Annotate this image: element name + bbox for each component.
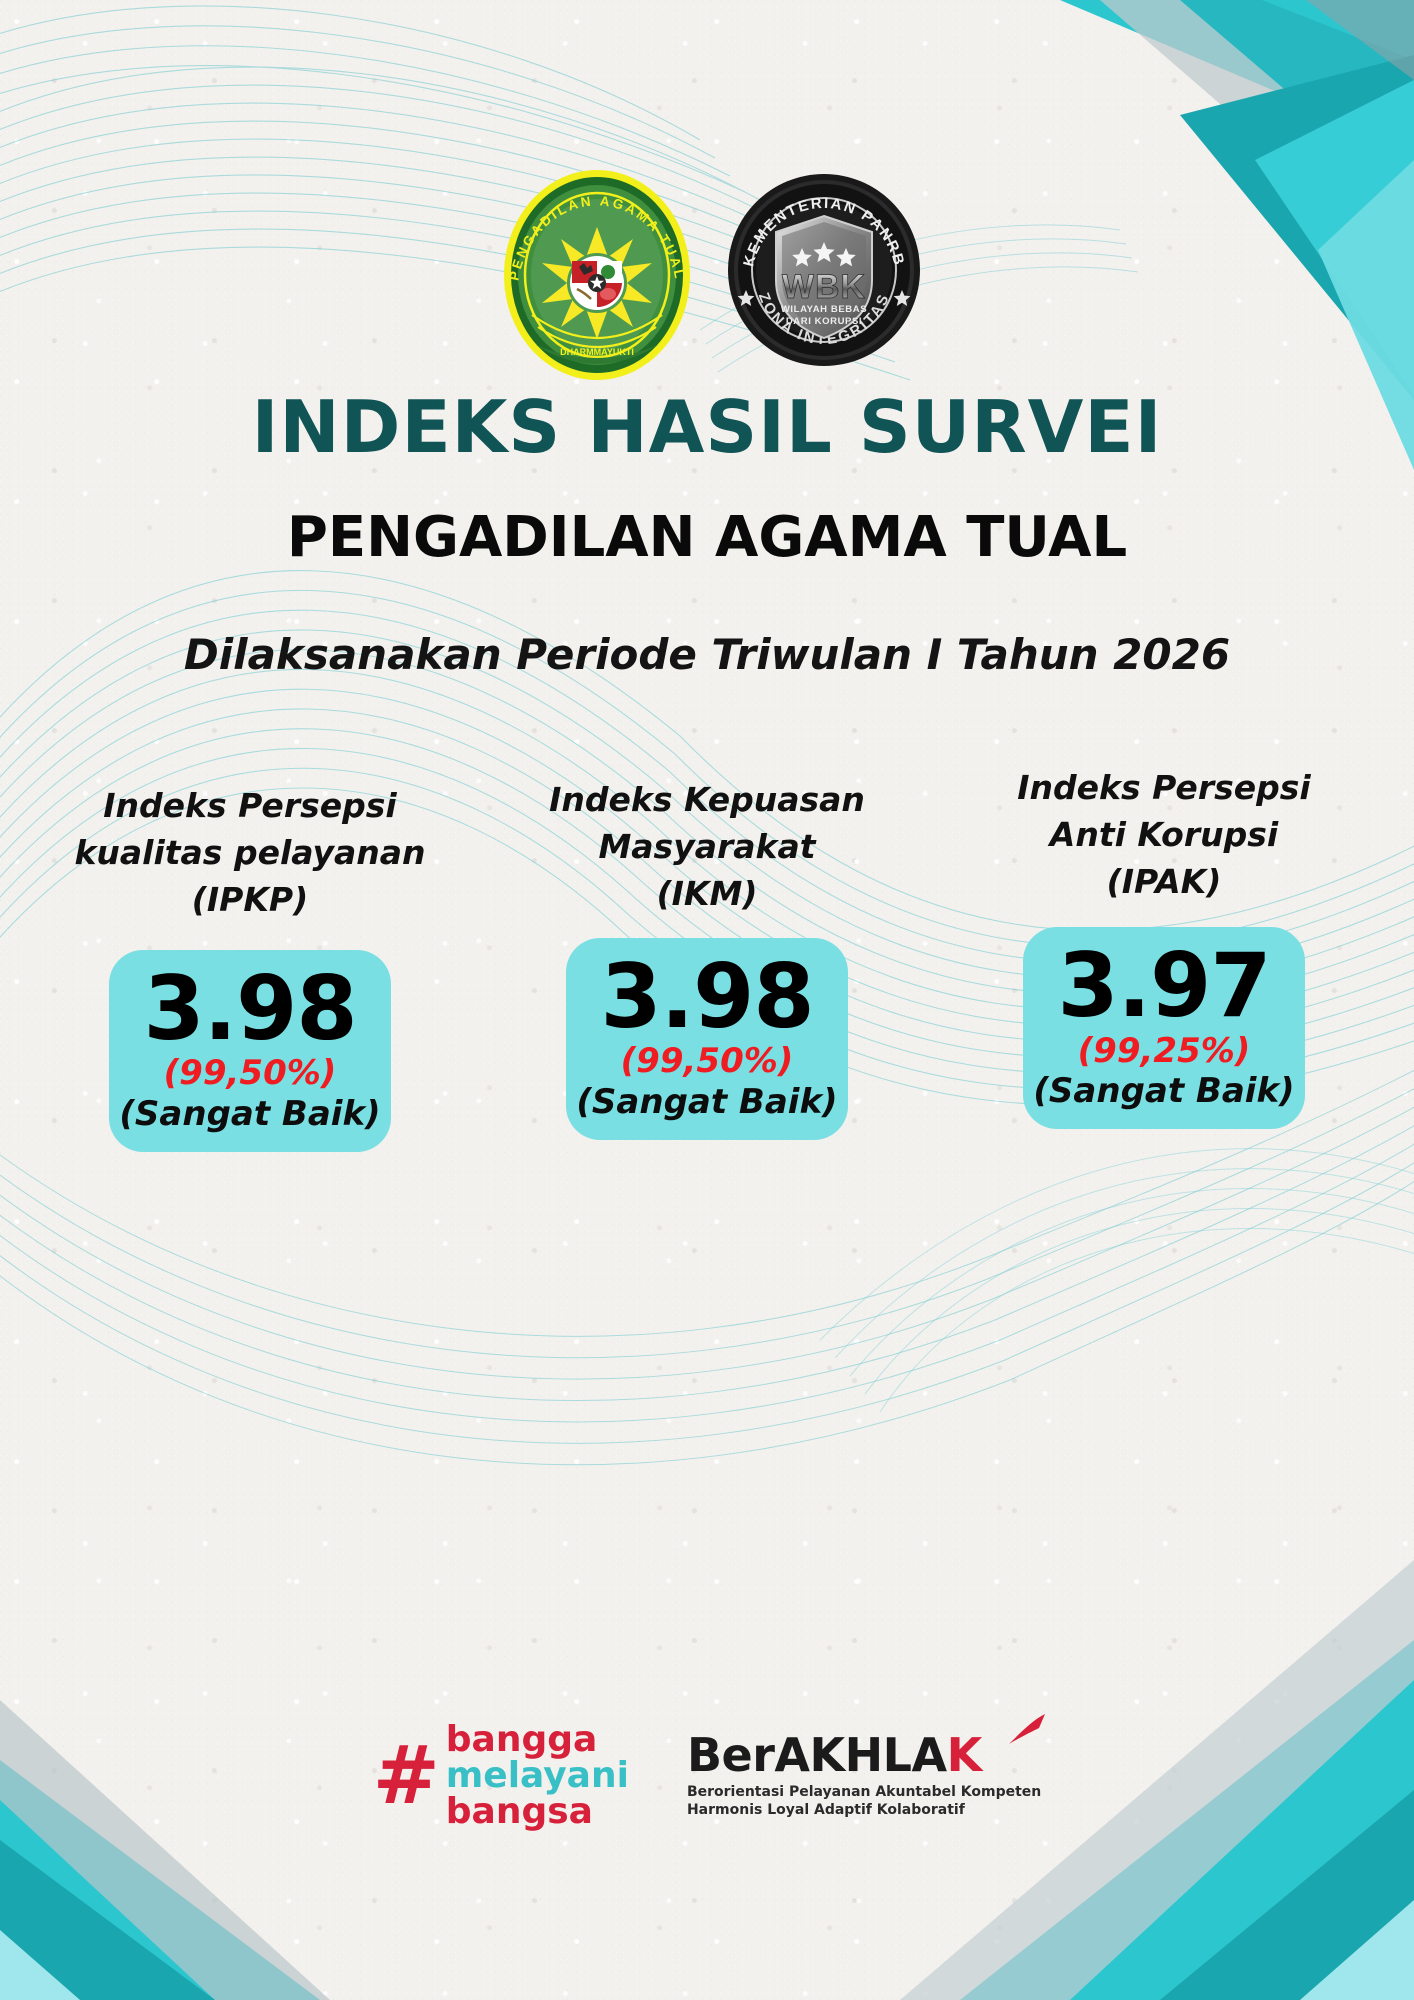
score-percent-ipkp: (99,50%) — [164, 1055, 337, 1092]
bangga-wordmark: bangga melayani bangsa — [446, 1722, 629, 1830]
poster-canvas: PENGADILAN AGAMA TUAL — [0, 0, 1414, 2000]
index-label-ikm: Indeks Kepuasan Masyarakat (IKM) — [549, 765, 865, 918]
index-column-ipak: Indeks Persepsi Anti Korupsi (IPAK) 3.97… — [954, 765, 1374, 1129]
score-value-ikm: 3.98 — [600, 952, 813, 1042]
wbk-zona-integritas-emblem: KEMENTERIAN PANRB ZONA INTEGRITAS — [726, 172, 922, 373]
score-percent-ipak: (99,25%) — [1078, 1033, 1251, 1070]
index-columns: Indeks Persepsi kualitas pelayanan (IPKP… — [40, 765, 1374, 1152]
index-label-line-3: (IKM) — [549, 871, 865, 918]
emblem-ribbon-text: DHARMMAYUKTI — [560, 347, 634, 357]
bangga-line-1: bangga — [446, 1722, 629, 1758]
institution-name: PENGADILAN AGAMA TUAL — [0, 505, 1414, 570]
wbk-sub-text-2: DARI KORUPSI — [786, 316, 862, 327]
score-percent-ikm: (99,50%) — [621, 1043, 794, 1080]
hash-icon: # — [373, 1742, 440, 1811]
survey-period: Dilaksanakan Periode Triwulan I Tahun 20… — [0, 630, 1414, 679]
index-label-ipak: Indeks Persepsi Anti Korupsi (IPAK) — [1017, 765, 1310, 915]
index-label-line-2: kualitas pelayanan — [74, 830, 425, 877]
berakhlak-logo: BerAKHLAK Berorientasi Pelayanan Akuntab… — [687, 1732, 1041, 1820]
bangga-line-3: bangsa — [446, 1794, 629, 1830]
wbk-center-text: WBK — [782, 268, 866, 306]
emblem-row: PENGADILAN AGAMA TUAL — [0, 155, 1414, 390]
index-label-line-3: (IPAK) — [1017, 859, 1310, 906]
page-title: INDEKS HASIL SURVEI — [0, 385, 1414, 469]
berakhlak-tagline: Berorientasi Pelayanan Akuntabel Kompete… — [687, 1784, 1041, 1820]
berakhlak-prefix: Ber — [687, 1728, 774, 1782]
index-column-ipkp: Indeks Persepsi kualitas pelayanan (IPKP… — [40, 765, 460, 1152]
score-box-ipak: 3.97 (99,25%) (Sangat Baik) — [1023, 927, 1305, 1129]
score-category-ipkp: (Sangat Baik) — [119, 1095, 380, 1134]
index-label-line-1: Indeks Persepsi — [1017, 765, 1310, 812]
index-column-ikm: Indeks Kepuasan Masyarakat (IKM) 3.98 (9… — [497, 765, 917, 1140]
berakhlak-suffix: K — [947, 1728, 982, 1782]
score-category-ikm: (Sangat Baik) — [576, 1083, 837, 1122]
footer-logo-row: # bangga melayani bangsa BerAKHLAK Beror… — [0, 1722, 1414, 1830]
index-label-line-2: Anti Korupsi — [1017, 812, 1310, 859]
berakhlak-highlight: AKHLA — [774, 1728, 946, 1782]
index-label-line-1: Indeks Kepuasan — [549, 777, 865, 824]
pengadilan-agama-tual-emblem: PENGADILAN AGAMA TUAL — [492, 155, 702, 390]
score-value-ipak: 3.97 — [1057, 941, 1270, 1031]
berakhlak-tagline-line-1: Berorientasi Pelayanan Akuntabel Kompete… — [687, 1784, 1041, 1802]
wbk-sub-text-1: WILAYAH BEBAS — [781, 304, 867, 315]
index-label-line-1: Indeks Persepsi — [74, 783, 425, 830]
index-label-line-3: (IPKP) — [74, 877, 425, 924]
score-box-ikm: 3.98 (99,50%) (Sangat Baik) — [566, 938, 848, 1140]
bangga-melayani-bangsa-logo: # bangga melayani bangsa — [373, 1722, 629, 1830]
index-label-ipkp: Indeks Persepsi kualitas pelayanan (IPKP… — [74, 765, 425, 924]
berakhlak-wordmark: BerAKHLAK — [687, 1732, 1041, 1778]
bangga-line-2: melayani — [446, 1758, 629, 1794]
score-category-ipak: (Sangat Baik) — [1033, 1072, 1294, 1111]
score-box-ipkp: 3.98 (99,50%) (Sangat Baik) — [109, 950, 391, 1152]
berakhlak-tagline-line-2: Harmonis Loyal Adaptif Kolaboratif — [687, 1802, 1041, 1820]
score-value-ipkp: 3.98 — [143, 964, 356, 1054]
index-label-line-2: Masyarakat — [549, 824, 865, 871]
